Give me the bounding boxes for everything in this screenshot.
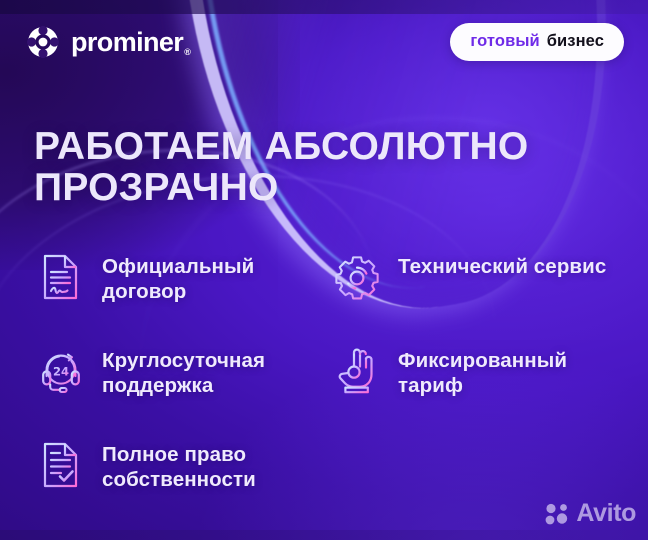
svg-text:24: 24 [53, 364, 69, 378]
feature-list: Официальный договор Технический сервис [38, 252, 628, 534]
gear-service-icon [334, 252, 380, 302]
feature-label: Фиксированный тариф [398, 346, 628, 398]
banner-header: prominer® готовый бизнес [0, 0, 648, 84]
avito-dots-icon [544, 503, 570, 525]
status-badge: готовый бизнес [450, 23, 624, 61]
feature-label: Круглосуточная поддержка [102, 346, 334, 398]
brand-name: prominer® [71, 29, 189, 56]
badge-plain-text: бизнес [547, 32, 604, 51]
feature-item-service: Технический сервис [334, 252, 628, 302]
feature-item-ownership: Полное право собственности [38, 440, 334, 492]
feature-label: Официальный договор [102, 252, 334, 304]
page-title: РАБОТАЕМ АБСОЛЮТНО ПРОЗРАЧНО [34, 126, 634, 209]
badge-highlight-text: готовый [470, 32, 539, 51]
contract-document-icon [38, 252, 84, 302]
headset-24h-icon: 24 [38, 346, 84, 396]
avito-wordmark: Avito [576, 501, 636, 526]
avito-watermark: Avito [544, 501, 636, 526]
feature-item-contract: Официальный договор [38, 252, 334, 304]
promo-banner: prominer® готовый бизнес РАБОТАЕМ АБСОЛЮ… [0, 0, 648, 540]
prominer-circle-mark-icon [26, 25, 60, 59]
feature-item-support: 24 Круглосуточная поддержка [38, 346, 334, 398]
checklist-document-icon [38, 440, 84, 490]
feature-item-tariff: Фиксированный тариф [334, 346, 628, 398]
registered-mark: ® [184, 47, 190, 57]
feature-label: Технический сервис [398, 252, 606, 279]
brand-logo: prominer® [26, 25, 189, 59]
brand-name-text: prominer [71, 27, 183, 57]
ok-hand-icon [334, 346, 380, 396]
feature-label: Полное право собственности [102, 440, 334, 492]
